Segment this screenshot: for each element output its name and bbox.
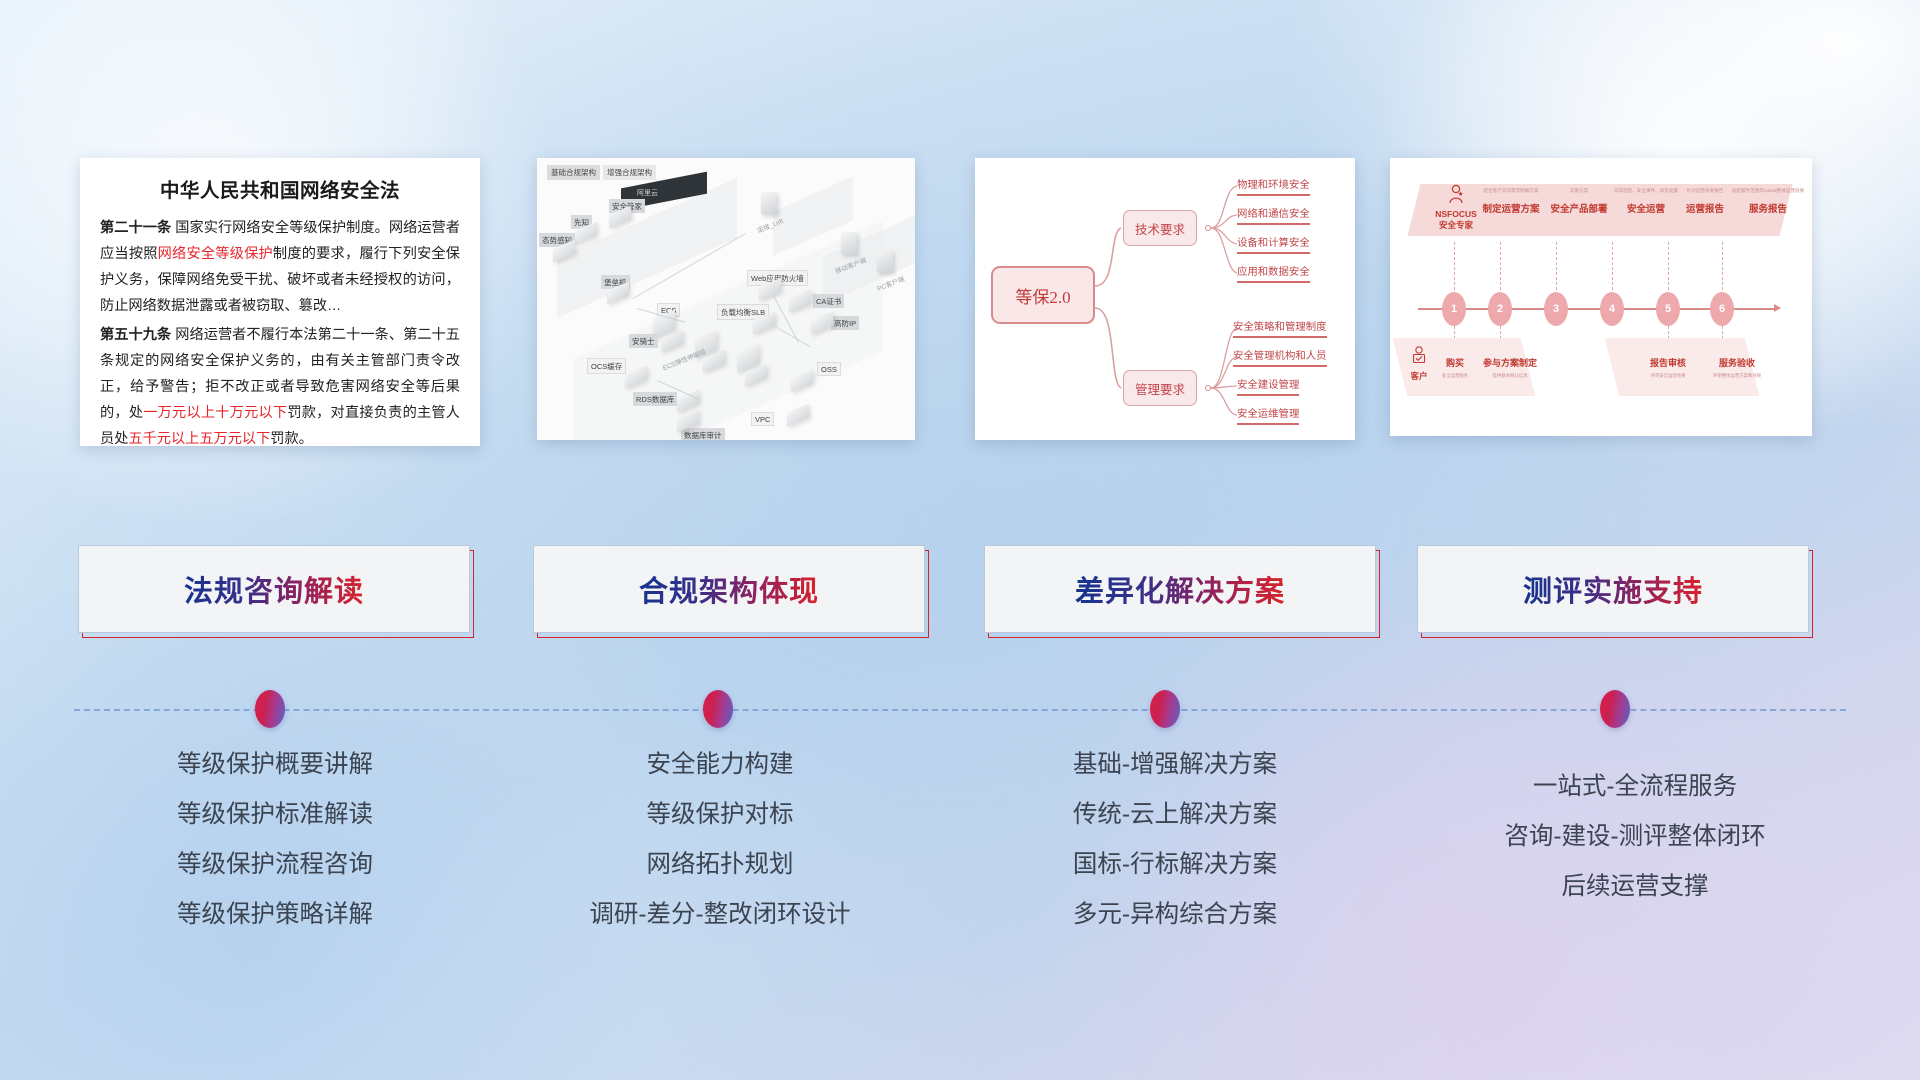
node-vpc: VPC: [787, 408, 809, 422]
nsfocus-timeline-arrow-icon: [1774, 304, 1781, 312]
title-box-3-label: 差异化解决方案: [1075, 568, 1285, 610]
nsfocus-connector-3: [1556, 242, 1557, 290]
node-oss: OSS: [791, 374, 813, 388]
detail-list-3: 基础-增强解决方案 传统-云上解决方案 国标-行标解决方案 多元-异构综合方案: [950, 740, 1400, 940]
title-box-1[interactable]: 法规咨询解读: [78, 545, 470, 633]
card-architecture-diagram[interactable]: 基础合规架构 增强合规架构 阿里云 安全管家 先知 态势感知: [537, 158, 915, 440]
mindmap-branch-management[interactable]: 管理要求: [1123, 370, 1197, 406]
list-item: 后续运营支撑: [1410, 862, 1860, 912]
node-database-audit: 数据库审计: [677, 414, 699, 428]
mindmap-leaf-mgmt-3[interactable]: 安全建设管理: [1237, 376, 1299, 396]
mindmap-leaf-tech-1[interactable]: 物理和环境安全: [1237, 176, 1310, 196]
timeline-dashed-line: [74, 709, 1846, 711]
nsfocus-canvas: NSFOCUS 安全专家 结合客户实际需求明确方案 制定运营方案 实施方案 安全…: [1390, 158, 1812, 436]
node-rds-database: RDS数据库: [677, 394, 699, 408]
list-item: 安全能力构建: [505, 740, 935, 790]
node-situational-awareness: 态势感知: [553, 244, 575, 258]
title-box-4[interactable]: 测评实施支持: [1417, 545, 1809, 633]
article-59-label: 第五十九条: [100, 327, 171, 343]
mindmap-leaf-tech-3[interactable]: 设备和计算安全: [1237, 234, 1310, 254]
preview-cards-row: 中华人民共和国网络安全法 第二十一条 国家实行网络安全等级保护制度。网络运营者应…: [0, 150, 1920, 450]
node-ecs-scaling-group-c: [737, 348, 759, 368]
node-ocs-cache: OCS缓存: [625, 370, 647, 384]
mindmap-leaf-mgmt-4[interactable]: 安全运维管理: [1237, 405, 1299, 425]
article-21-label: 第二十一条: [100, 220, 171, 236]
card-mindmap[interactable]: 等保2.0 技术要求 管理要求 物理和环境安全 网络和通信安全 设备和计算安全 …: [975, 158, 1355, 440]
section-title-row: 法规咨询解读 合规架构体现 差异化解决方案 测评实施支持: [0, 545, 1920, 645]
mindmap-canvas: 等保2.0 技术要求 管理要求 物理和环境安全 网络和通信安全 设备和计算安全 …: [975, 158, 1355, 440]
law-article-21: 第二十一条 国家实行网络安全等级保护制度。网络运营者应当按照网络安全等级保护制度…: [100, 215, 460, 319]
mindmap-collapse-icon-management[interactable]: [1205, 385, 1211, 391]
timeline-marker-4[interactable]: [1600, 690, 1630, 728]
law-article-59: 第五十九条 网络运营者不履行本法第二十一条、第二十五条规定的网络安全保护义务的，…: [100, 322, 460, 446]
node-pc-client: PC客户端: [877, 250, 893, 272]
list-item: 基础-增强解决方案: [950, 740, 1400, 790]
nsfocus-bottom-step-4: 服务验收 评审整体运营方案和效果: [1698, 356, 1776, 379]
list-item: 等级保护流程咨询: [60, 840, 490, 890]
nsfocus-step-marker-6[interactable]: 6: [1710, 292, 1734, 326]
article-59-highlight-1: 一万元以上十万元以下: [143, 405, 287, 421]
nsfocus-connector-2: [1500, 242, 1501, 290]
timeline-marker-3[interactable]: [1150, 690, 1180, 728]
nsfocus-top-step-5: 总结服务范围等output整体运营效果 服务报告: [1720, 188, 1812, 215]
list-item: 国标-行标解决方案: [950, 840, 1400, 890]
nsfocus-step-marker-3[interactable]: 3: [1544, 292, 1568, 326]
nsfocus-bottom-step-3: 报告审核 评审安全运营效果: [1636, 356, 1700, 379]
mindmap-leaf-tech-4[interactable]: 应用和数据安全: [1237, 263, 1310, 283]
mindmap-leaf-tech-2[interactable]: 网络和通信安全: [1237, 205, 1310, 225]
list-item: 多元-异构综合方案: [950, 890, 1400, 940]
nsfocus-connector-5: [1668, 242, 1669, 290]
title-box-1-label: 法规咨询解读: [184, 568, 364, 610]
nsfocus-step-marker-2[interactable]: 2: [1488, 292, 1512, 326]
nsfocus-bottom-step-1: 购买 安全运营服务: [1434, 356, 1476, 379]
title-box-4-label: 测评实施支持: [1523, 568, 1703, 610]
nsfocus-connector-1: [1454, 242, 1455, 290]
nsfocus-step-marker-1[interactable]: 1: [1442, 292, 1466, 326]
card-law-document[interactable]: 中华人民共和国网络安全法 第二十一条 国家实行网络安全等级保护制度。网络运营者应…: [80, 158, 480, 446]
title-box-3-panel: 差异化解决方案: [984, 545, 1376, 633]
node-waf: Web应用防火墙: [759, 282, 781, 296]
title-box-2-label: 合规架构体现: [639, 568, 819, 610]
customer-label: 客户: [1402, 371, 1436, 382]
card-nsfocus-timeline[interactable]: NSFOCUS 安全专家 结合客户实际需求明确方案 制定运营方案 实施方案 安全…: [1390, 158, 1812, 436]
node-ops-terminal: 运维_Left: [761, 192, 777, 214]
customer-avatar-icon: [1411, 346, 1427, 366]
timeline-track: [0, 690, 1920, 730]
nsfocus-customer-persona: 客户: [1402, 346, 1436, 382]
list-item: 咨询-建设-测评整体闭环: [1410, 812, 1860, 862]
law-document-body: 中华人民共和国网络安全法 第二十一条 国家实行网络安全等级保护制度。网络运营者应…: [80, 158, 480, 446]
nsfocus-step-marker-4[interactable]: 4: [1600, 292, 1624, 326]
list-item: 网络拓扑规划: [505, 840, 935, 890]
node-ca-certificate: CA证书: [789, 294, 811, 308]
nsfocus-step-marker-5[interactable]: 5: [1656, 292, 1680, 326]
mindmap-leaf-mgmt-2[interactable]: 安全管理机构和人员: [1233, 347, 1327, 367]
title-box-3[interactable]: 差异化解决方案: [984, 545, 1376, 633]
node-slb: 负载均衡SLB: [753, 316, 775, 330]
nsfocus-connector-4: [1612, 242, 1613, 290]
architecture-canvas: 基础合规架构 增强合规架构 阿里云 安全管家 先知 态势感知: [537, 158, 915, 440]
detail-lists-row: 等级保护概要讲解 等级保护标准解读 等级保护流程咨询 等级保护策略详解 安全能力…: [0, 740, 1920, 970]
mindmap-root-node[interactable]: 等保2.0: [991, 266, 1095, 324]
tab-basic-architecture[interactable]: 基础合规架构: [547, 165, 600, 180]
nsfocus-connector-6: [1722, 242, 1723, 290]
title-box-4-panel: 测评实施支持: [1417, 545, 1809, 633]
title-box-2[interactable]: 合规架构体现: [533, 545, 925, 633]
article-59-highlight-2: 五千元以上五万元以下: [128, 431, 270, 446]
timeline-marker-1[interactable]: [255, 690, 285, 728]
list-item: 调研-差分-整改闭环设计: [505, 890, 935, 940]
node-security-butler: 安全管家: [609, 210, 631, 224]
tab-enhanced-architecture[interactable]: 增强合规架构: [603, 165, 656, 180]
node-anti-ddos-ip: 高防IP: [811, 316, 833, 330]
detail-list-2: 安全能力构建 等级保护对标 网络拓扑规划 调研-差分-整改闭环设计: [505, 740, 935, 940]
node-anqishi: 安骑士: [661, 334, 683, 348]
nsfocus-bottom-step-2: 参与方案制定 提供基本网认信息: [1474, 356, 1546, 379]
law-title: 中华人民共和国网络安全法: [100, 174, 460, 203]
architecture-tabs[interactable]: 基础合规架构 增强合规架构: [547, 165, 656, 180]
node-ecs-scaling-group-b: [703, 354, 725, 368]
title-box-1-panel: 法规咨询解读: [78, 545, 470, 633]
list-item: 传统-云上解决方案: [950, 790, 1400, 840]
timeline-marker-2[interactable]: [703, 690, 733, 728]
list-item: 等级保护概要讲解: [60, 740, 490, 790]
list-item: 一站式-全流程服务: [1410, 762, 1860, 812]
list-item: 等级保护标准解读: [60, 790, 490, 840]
detail-list-4: 一站式-全流程服务 咨询-建设-测评整体闭环 后续运营支撑: [1410, 762, 1860, 912]
node-mobile-client: 移动客户端: [841, 232, 857, 254]
cloud-band-label: 阿里云: [637, 188, 658, 198]
article-21-highlight: 网络安全等级保护: [158, 246, 273, 262]
node-bastion-host: 堡垒机: [607, 286, 629, 300]
list-item: 等级保护对标: [505, 790, 935, 840]
mindmap-leaf-mgmt-1[interactable]: 安全策略和管理制度: [1233, 318, 1327, 338]
node-ecs-scaling-group-d: [745, 368, 767, 382]
title-box-2-panel: 合规架构体现: [533, 545, 925, 633]
detail-list-1: 等级保护概要讲解 等级保护标准解读 等级保护流程咨询 等级保护策略详解: [60, 740, 490, 940]
list-item: 等级保护策略详解: [60, 890, 490, 940]
mindmap-collapse-icon-technical[interactable]: [1205, 225, 1211, 231]
node-xianzhi: 先知: [575, 226, 597, 240]
expert-avatar-icon: [1447, 184, 1465, 204]
expert-line-2: 安全专家: [1426, 220, 1486, 231]
article-59-part3: 罚款。: [270, 431, 313, 446]
mindmap-branch-technical[interactable]: 技术要求: [1123, 210, 1197, 246]
